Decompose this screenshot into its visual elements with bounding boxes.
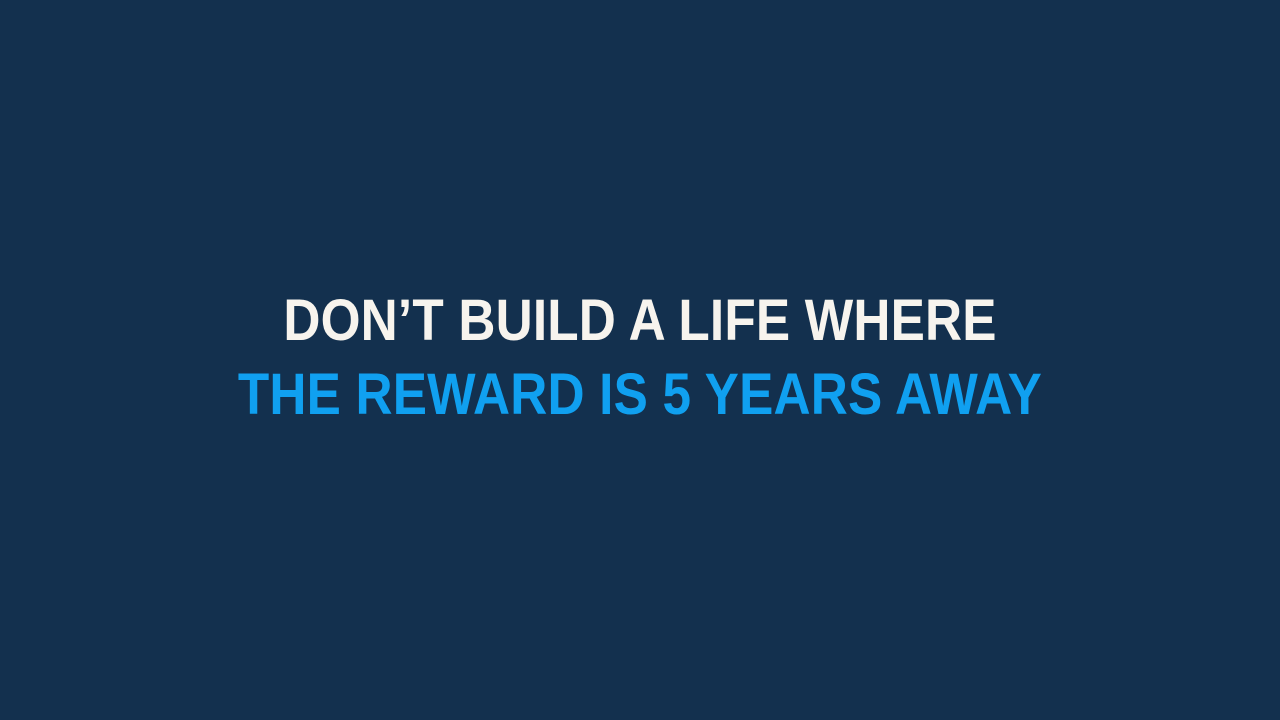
slide-canvas: DON’T BUILD A LIFE WHERE THE REWARD IS 5… — [0, 0, 1280, 720]
quote-line-highlight: THE REWARD IS 5 YEARS AWAY — [74, 358, 1207, 432]
quote-block: DON’T BUILD A LIFE WHERE THE REWARD IS 5… — [0, 284, 1280, 432]
quote-line-primary: DON’T BUILD A LIFE WHERE — [74, 284, 1207, 358]
